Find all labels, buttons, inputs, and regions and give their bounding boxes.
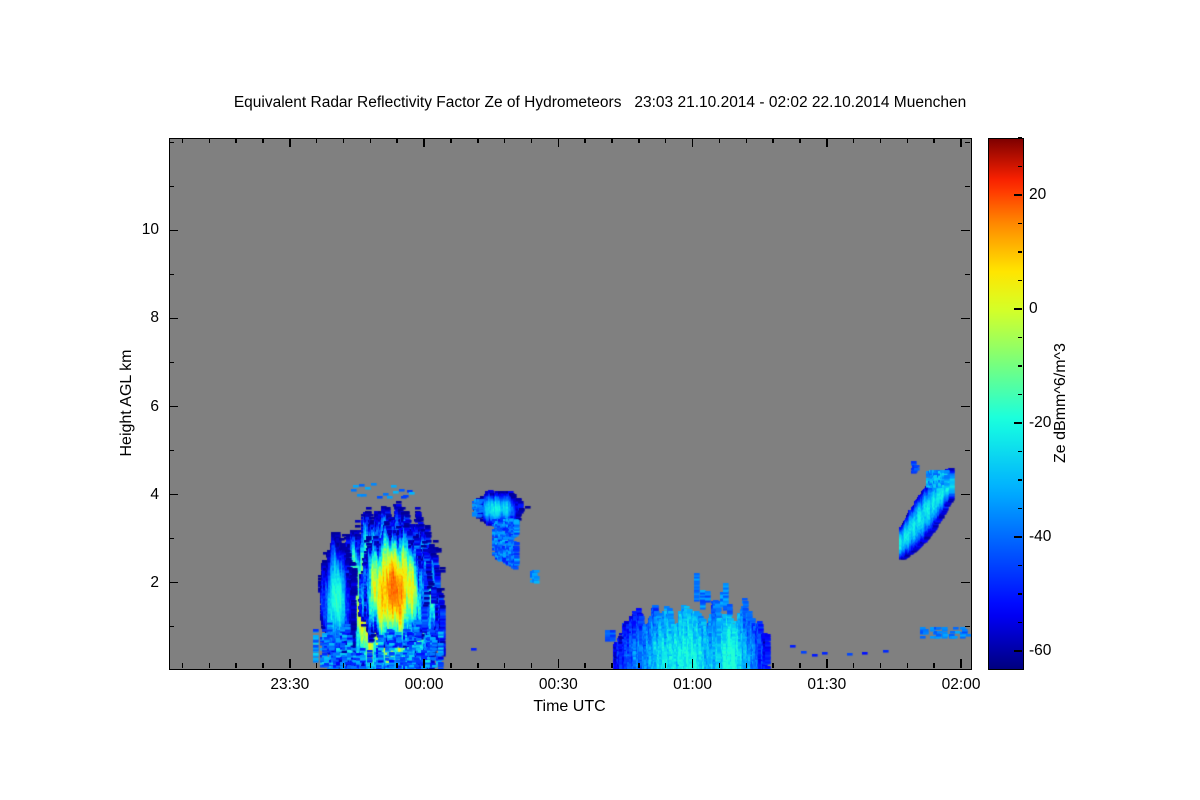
axis-tick [746,663,748,668]
axis-tick [169,274,174,276]
axis-tick [665,138,667,143]
axis-tick [396,663,398,668]
colorbar-tick [1018,508,1022,510]
axis-tick [477,138,479,143]
colorbar-tick-label: -60 [1029,642,1051,660]
colorbar-tick [1018,166,1022,168]
axis-tick [907,663,909,668]
axis-tick [450,138,452,143]
chart-title: Equivalent Radar Reflectivity Factor Ze … [0,94,1200,112]
axis-tick [169,362,174,364]
colorbar-tick-label: 0 [1029,300,1038,318]
axis-tick [531,663,533,668]
x-tick-label: 00:30 [539,676,578,694]
colorbar-tick [1014,536,1022,538]
axis-tick [611,663,613,668]
axis-tick [558,138,560,147]
y-tick-label: 2 [125,574,159,592]
axis-tick [169,538,174,540]
colorbar-tick [1018,280,1022,282]
axis-tick [182,138,184,143]
axis-tick [638,663,640,668]
axis-tick [961,230,970,232]
x-tick-label: 01:30 [807,676,846,694]
y-tick-label: 4 [125,486,159,504]
colorbar-tick [1018,593,1022,595]
axis-tick [933,663,935,668]
axis-tick [182,663,184,668]
colorbar [988,138,1024,670]
axis-tick [450,663,452,668]
axis-tick [396,138,398,143]
axis-tick [289,659,291,668]
axis-tick [772,663,774,668]
axis-tick [531,138,533,143]
axis-tick [907,138,909,143]
colorbar-tick [1014,194,1022,196]
axis-tick [169,406,178,408]
axis-tick [262,138,264,143]
axis-tick [746,138,748,143]
axis-tick [423,138,425,147]
colorbar-tick [1018,223,1022,225]
axis-tick [169,582,178,584]
x-tick-label: 23:30 [270,676,309,694]
axis-tick [209,138,211,143]
axis-tick [665,663,667,668]
axis-tick [611,138,613,143]
colorbar-tick [1018,622,1022,624]
y-tick-label: 8 [125,309,159,327]
axis-tick [880,138,882,143]
colorbar-tick [1018,251,1022,253]
axis-tick [343,138,345,143]
colorbar-tick [1018,565,1022,567]
axis-tick [289,138,291,147]
axis-tick [316,138,318,143]
axis-tick [169,626,174,628]
axis-tick [692,659,694,668]
axis-tick [169,186,174,188]
axis-tick [719,138,721,143]
axis-tick [169,450,174,452]
x-tick-label: 02:00 [942,676,981,694]
axis-tick [960,659,962,668]
colorbar-tick [1018,365,1022,367]
axis-tick [960,138,962,147]
colorbar-tick-label: 20 [1029,186,1046,204]
axis-tick [965,142,970,144]
axis-tick [343,663,345,668]
axis-tick [558,659,560,668]
axis-tick [423,659,425,668]
axis-tick [961,406,970,408]
radar-reflectivity-figure: Equivalent Radar Reflectivity Factor Ze … [0,0,1200,800]
colorbar-tick-label: -40 [1029,528,1051,546]
axis-tick [504,663,506,668]
axis-tick [370,138,372,143]
colorbar-gradient [989,139,1023,669]
colorbar-tick [1014,422,1022,424]
axis-tick [961,318,970,320]
axis-tick [799,138,801,143]
colorbar-tick [1018,337,1022,339]
axis-tick [961,494,970,496]
axis-tick [965,274,970,276]
colorbar-tick [1014,650,1022,652]
axis-tick [692,138,694,147]
colorbar-tick [1014,308,1022,310]
axis-tick [965,186,970,188]
axis-tick [719,663,721,668]
axis-tick [477,663,479,668]
colorbar-title: Ze dBmm^6/m^3 [1052,343,1070,463]
axis-tick [880,663,882,668]
axis-tick [209,663,211,668]
x-axis-title: Time UTC [533,698,605,716]
y-tick-label: 10 [125,221,159,239]
reflectivity-heatmap-canvas [170,139,971,669]
axis-tick [853,138,855,143]
axis-tick [316,663,318,668]
axis-tick [826,138,828,147]
colorbar-tick [1018,451,1022,453]
axis-tick [638,138,640,143]
plot-area [169,138,972,670]
axis-tick [799,663,801,668]
x-tick-label: 01:00 [673,676,712,694]
colorbar-tick [1018,479,1022,481]
colorbar-tick [1018,137,1022,139]
axis-tick [262,663,264,668]
x-tick-label: 00:00 [405,676,444,694]
axis-tick [965,538,970,540]
axis-tick [504,138,506,143]
axis-tick [584,663,586,668]
y-axis-title: Height AGL km [118,349,136,456]
axis-tick [235,663,237,668]
axis-tick [772,138,774,143]
axis-tick [853,663,855,668]
axis-tick [933,138,935,143]
colorbar-tick-label: -20 [1029,414,1051,432]
axis-tick [169,142,174,144]
axis-tick [965,450,970,452]
axis-tick [169,230,178,232]
axis-tick [235,138,237,143]
axis-tick [826,659,828,668]
axis-tick [961,582,970,584]
axis-tick [169,318,178,320]
axis-tick [169,494,178,496]
colorbar-tick [1018,394,1022,396]
axis-tick [965,626,970,628]
axis-tick [965,362,970,364]
axis-tick [584,138,586,143]
axis-tick [370,663,372,668]
